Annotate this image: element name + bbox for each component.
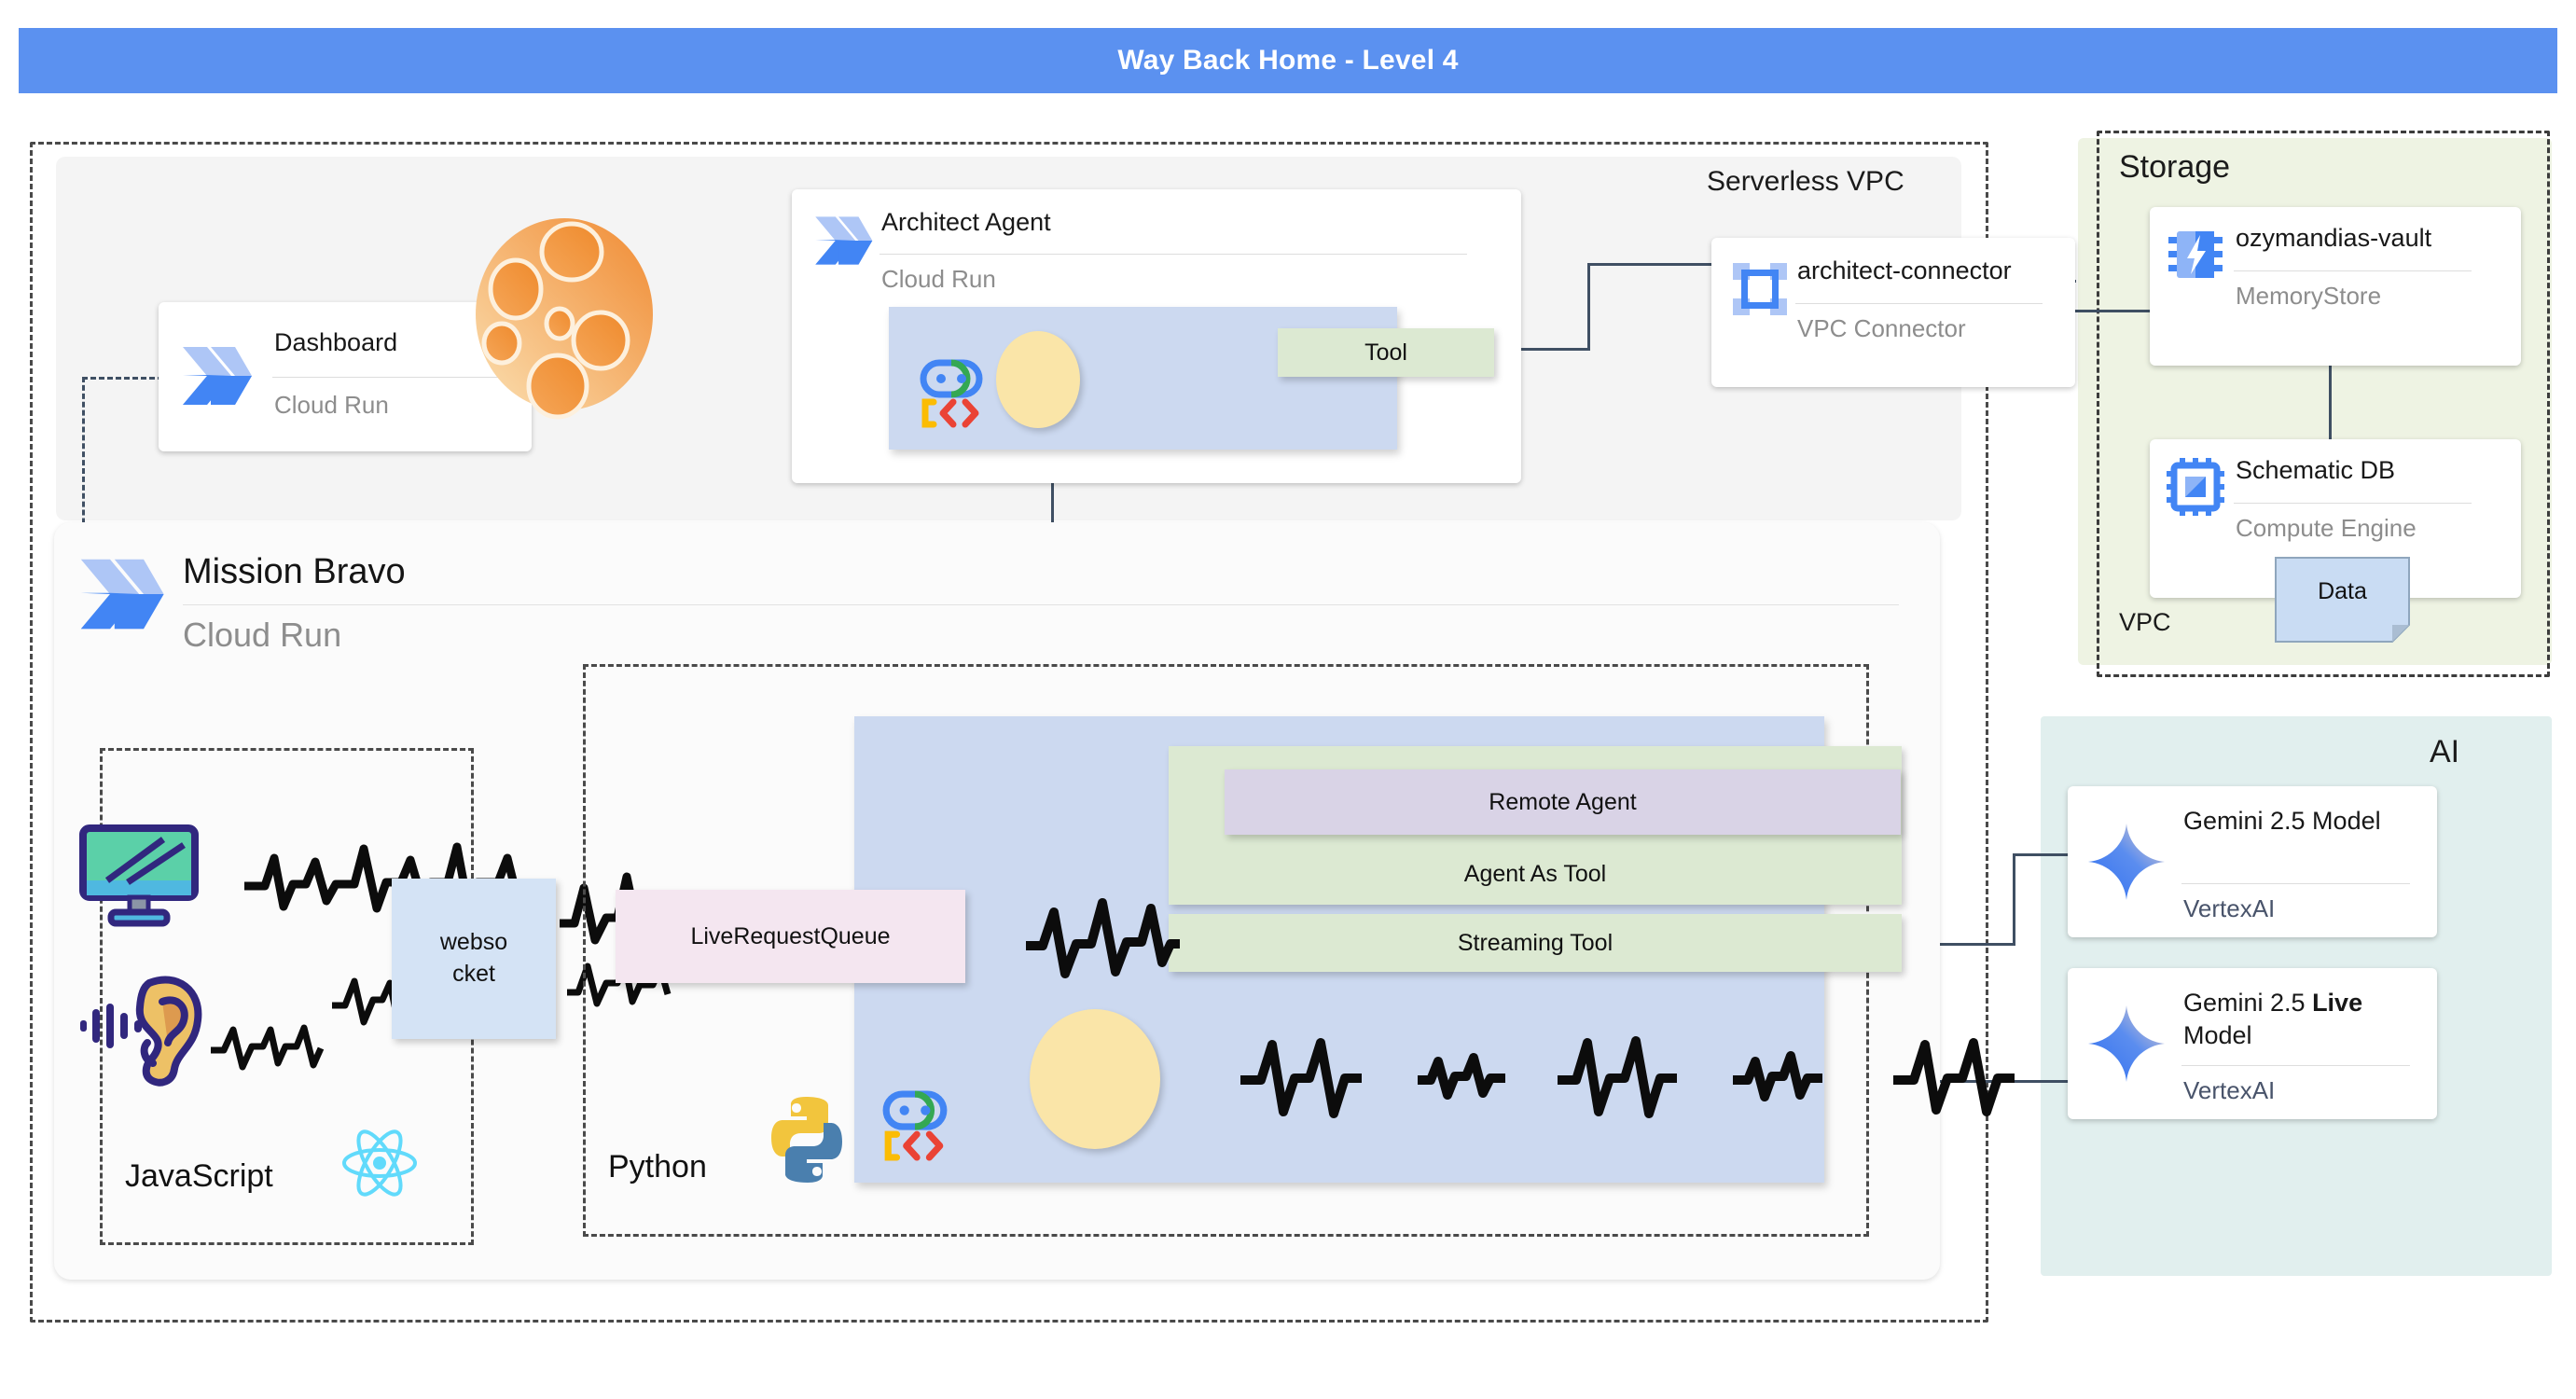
card-architect-connector[interactable]: architect-connector VPC Connector [1711,238,2075,387]
box-live-request-queue-label: LiveRequestQueue [690,923,890,950]
box-websocket-label-2: cket [452,959,495,990]
box-tool[interactable]: Tool [1278,328,1494,377]
card-gemini-live-title-prefix: Gemini 2.5 [2183,989,2312,1017]
card-gemini-live-subtitle: VertexAI [2183,1076,2275,1105]
card-gemini-live-title-bold: Live [2312,989,2362,1017]
card-mission-title: Mission Bravo [183,552,406,592]
card-gemini-subtitle: VertexAI [2183,894,2275,923]
connector-streaming-up [2013,853,2015,946]
card-gemini-title: Gemini 2.5 Model [2183,805,2407,838]
zone-label-serverless-vpc: Serverless VPC [1707,166,1904,198]
card-connector-divider [1795,303,2043,304]
session-state-circle [996,331,1080,428]
zone-label-storage-vpc: VPC [2119,608,2171,637]
card-gemini-model[interactable]: Gemini 2.5 Model VertexAI [2068,786,2437,937]
box-live-request-queue[interactable]: LiveRequestQueue [616,890,965,983]
moon-crater-graphic [474,216,660,412]
connector-vpc-to-vault [2072,310,2153,312]
connector-tool-to-vpcconnector [1587,263,1716,266]
box-agent-as-tool-label: Agent As Tool [1464,861,1606,888]
waveform-queue-to-streaming [1026,893,1180,996]
card-dashboard-subtitle: Cloud Run [274,391,389,420]
card-mission-divider [183,604,1899,605]
card-vault-subtitle: MemoryStore [2236,282,2381,311]
page-title: Way Back Home - Level 4 [1117,45,1458,76]
card-schematic-title: Schematic DB [2236,456,2395,485]
diagram-canvas: Way Back Home - Level 4 Serverless VPC S… [0,0,2576,1399]
page-title-bar: Way Back Home - Level 4 [19,28,2557,93]
card-dashboard-title: Dashboard [274,328,397,357]
zone-label-ai: AI [2430,734,2459,770]
card-vault-title: ozymandias-vault [2236,224,2431,253]
box-data[interactable]: Data [2276,558,2409,642]
card-mission-subtitle: Cloud Run [183,616,341,655]
card-connector-subtitle: VPC Connector [1797,314,1966,343]
card-gemini-live-title-suffix: Model [2183,1021,2252,1049]
box-remote-agent-label: Remote Agent [1489,789,1636,816]
card-schematic-divider [2234,503,2472,504]
card-schematic-subtitle: Compute Engine [2236,514,2417,543]
box-streaming-tool[interactable]: Streaming Tool [1169,914,1902,972]
connector-tool-up [1587,263,1590,351]
card-gemini-divider [2181,883,2410,884]
session-state-circle [1030,1009,1160,1149]
card-architect-divider [879,254,1467,255]
box-remote-agent[interactable]: Remote Agent [1225,769,1901,835]
card-vault-divider [2234,270,2472,271]
card-ozymandias-vault[interactable]: ozymandias-vault MemoryStore [2150,207,2521,366]
waveform-session-to-gemini-live [1240,1024,2080,1136]
zone-label-storage: Storage [2119,149,2230,186]
box-streaming-tool-label: Streaming Tool [1458,930,1613,957]
box-data-label: Data [2276,578,2409,605]
box-websocket-label-1: webso [440,927,507,959]
box-tool-label: Tool [1364,339,1407,367]
card-dashboard-divider [272,377,506,378]
card-architect-subtitle: Cloud Run [881,265,996,294]
zone-label-javascript: JavaScript [125,1158,273,1195]
card-gemini-live-model[interactable]: Gemini 2.5 Live Model VertexAI [2068,968,2437,1119]
card-gemini-live-divider [2181,1065,2410,1066]
card-gemini-live-title: Gemini 2.5 Live Model [2183,987,2417,1051]
zone-label-python: Python [608,1149,707,1185]
card-connector-title: architect-connector [1797,256,2012,285]
card-architect-title: Architect Agent [881,208,1051,237]
waveform-ear-small [211,1017,323,1074]
box-websocket[interactable]: webso cket [392,879,556,1039]
card-architect-agent[interactable]: Architect Agent Cloud Run Tool [792,189,1521,483]
